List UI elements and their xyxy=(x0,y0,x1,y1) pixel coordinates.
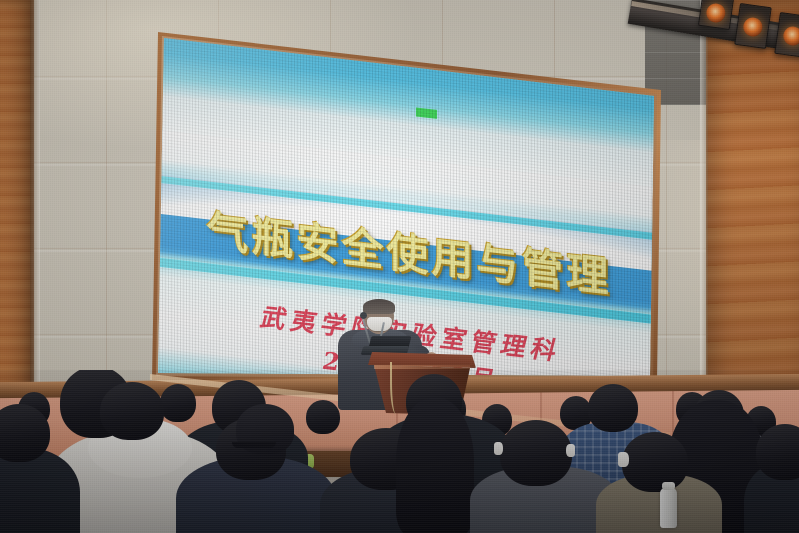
face-mask xyxy=(566,444,575,457)
audience-head xyxy=(100,382,164,440)
audience-head xyxy=(500,420,572,486)
audience-head xyxy=(160,384,196,422)
stage-light-glow-icon xyxy=(782,25,799,46)
audience xyxy=(0,370,799,533)
cap-brim xyxy=(232,442,276,448)
water-bottle xyxy=(660,488,677,528)
stage-light-glow-icon xyxy=(705,2,726,23)
stage-light-left xyxy=(734,3,772,49)
audience-head xyxy=(306,400,340,434)
stage-light-glow-icon xyxy=(742,16,763,37)
left-wood-panel-shadow xyxy=(0,0,34,400)
stage-light-center xyxy=(698,0,734,30)
presenter-hair xyxy=(363,299,395,314)
audience-head xyxy=(588,384,638,432)
long-hair-attendee xyxy=(396,398,474,533)
face-mask xyxy=(618,452,629,467)
left-column-edge xyxy=(30,0,40,400)
right-column-edge xyxy=(700,0,708,420)
face-mask xyxy=(494,442,503,455)
microphone-head-icon xyxy=(360,312,367,319)
audience-head xyxy=(756,424,799,480)
lectern-top-edge-highlight xyxy=(374,365,470,369)
audience-head xyxy=(622,432,688,492)
lecture-hall-scene: 气瓶安全使用与管理 武夷学院实验室管理科 2021年10月 xyxy=(0,0,799,533)
right-wood-panel-shadow xyxy=(706,0,799,420)
presenter-face-mask xyxy=(367,317,392,331)
water-bottle-cap xyxy=(662,482,675,490)
